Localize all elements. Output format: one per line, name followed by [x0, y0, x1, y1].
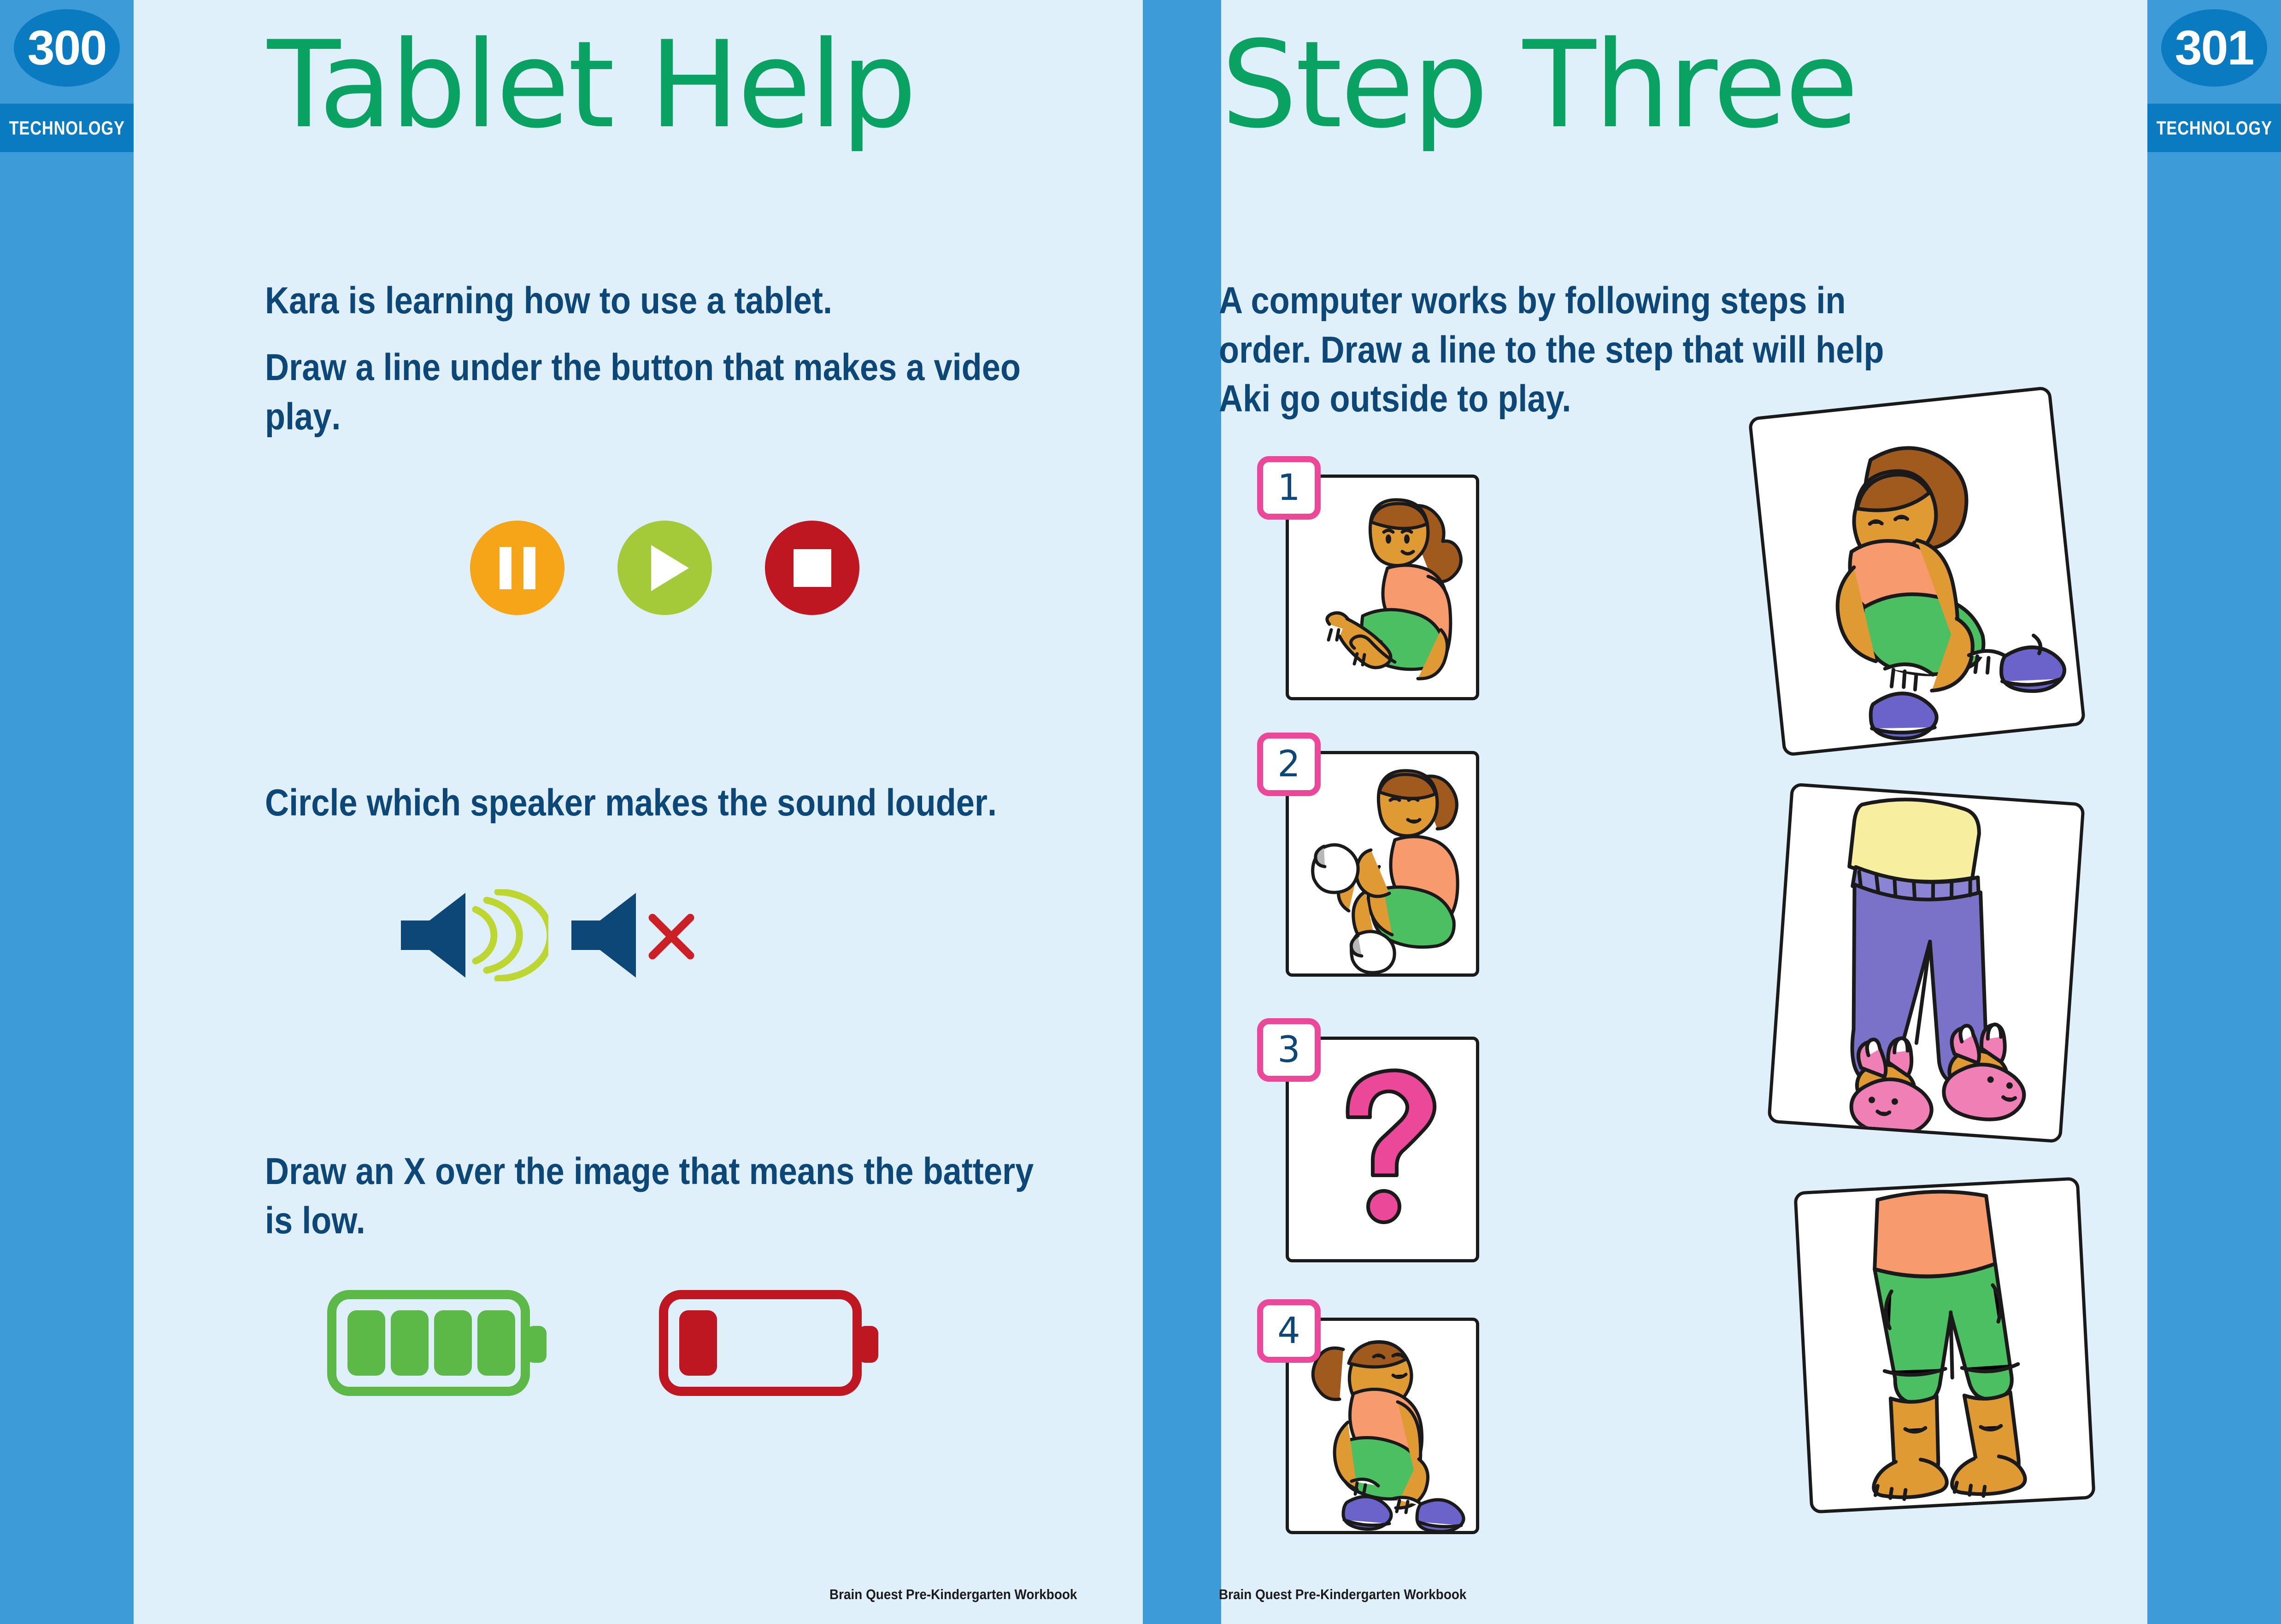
right-page: Step Three A computer works by following…	[1221, 0, 2147, 1624]
play-icon	[651, 545, 689, 591]
speaker-loud-icon	[396, 889, 548, 981]
task2-text-before: Circle which speaker makes the sound	[265, 782, 886, 824]
pause-button[interactable]	[470, 521, 564, 615]
task2-instruction: Circle which speaker makes the sound lou…	[265, 779, 1035, 828]
answer-shoes-illustration	[1752, 389, 2082, 753]
task3-instruction: Draw an X over the image that means the …	[265, 1147, 1035, 1245]
right-intro-text: A computer works by following steps in o…	[1219, 276, 1928, 424]
speaker-muted-icon	[567, 889, 705, 981]
question-mark-icon	[1348, 1070, 1435, 1222]
answer-card-shoes[interactable]	[1748, 386, 2086, 757]
left-page-number-badge: 300	[14, 9, 120, 87]
left-page-rail: 300 TECHNOLOGY	[0, 0, 134, 1624]
stop-button[interactable]	[765, 521, 859, 615]
answer-card-pajamas[interactable]	[1767, 783, 2085, 1143]
answer-shorts-illustration	[1797, 1180, 2092, 1511]
task1-instruction: Draw a line under the button that makes …	[265, 343, 1035, 441]
task1-text-after: .	[331, 396, 341, 438]
left-page-title: Tablet Help	[267, 25, 915, 145]
left-page: Tablet Help Kara is learning how to use …	[134, 0, 1143, 1624]
battery-low-icon	[659, 1290, 885, 1396]
task2-text-after: .	[988, 782, 997, 824]
battery-full-icon	[327, 1290, 553, 1396]
right-page-rail: 301 TECHNOLOGY	[2147, 0, 2281, 1624]
left-subject-tab-label: TECHNOLOGY	[9, 117, 124, 139]
step-card-4[interactable]: 4	[1286, 1318, 1479, 1534]
left-intro-line: Kara is learning how to use a tablet.	[265, 276, 1035, 326]
right-page-title: Step Three	[1221, 25, 1857, 145]
play-button[interactable]	[617, 521, 712, 615]
answer-pajamas-illustration	[1770, 786, 2081, 1140]
right-page-footer: Brain Quest Pre-Kindergarten Workbook	[1219, 1586, 1466, 1603]
speaker-options-row	[396, 889, 737, 974]
left-page-footer: Brain Quest Pre-Kindergarten Workbook	[829, 1586, 1077, 1603]
media-buttons-row	[470, 521, 859, 615]
speaker-loud-option[interactable]	[396, 889, 511, 974]
battery-low-option[interactable]	[659, 1290, 885, 1396]
step-card-3[interactable]: 3	[1286, 1037, 1479, 1262]
task2-bold-word: louder	[886, 782, 988, 824]
task3-text-before: Draw an	[265, 1150, 404, 1192]
right-subject-tab-label: TECHNOLOGY	[2156, 117, 2272, 139]
step-2-number-badge: 2	[1257, 733, 1321, 796]
task1-bold-word: play	[265, 396, 331, 438]
x-cross-icon	[653, 918, 690, 956]
answer-card-shorts[interactable]	[1793, 1177, 2096, 1513]
speaker-muted-option[interactable]	[567, 889, 682, 974]
right-page-number-badge: 301	[2161, 9, 2267, 87]
center-gutter	[1143, 0, 1221, 1624]
task3-bold-word: X	[404, 1150, 426, 1192]
pause-icon	[500, 547, 535, 589]
step-card-2[interactable]: 2	[1286, 751, 1479, 977]
battery-options-row	[327, 1290, 991, 1396]
step-1-number-badge: 1	[1257, 456, 1321, 520]
task1-text-before: Draw a line under the button that makes …	[265, 346, 1021, 388]
stop-icon	[794, 549, 831, 587]
battery-full-option[interactable]	[327, 1290, 553, 1396]
right-subject-tab: TECHNOLOGY	[2147, 104, 2281, 152]
step-card-1[interactable]: 1	[1286, 475, 1479, 700]
step-4-number-badge: 4	[1257, 1299, 1321, 1363]
left-subject-tab: TECHNOLOGY	[0, 104, 134, 152]
step-3-number-badge: 3	[1257, 1018, 1321, 1082]
